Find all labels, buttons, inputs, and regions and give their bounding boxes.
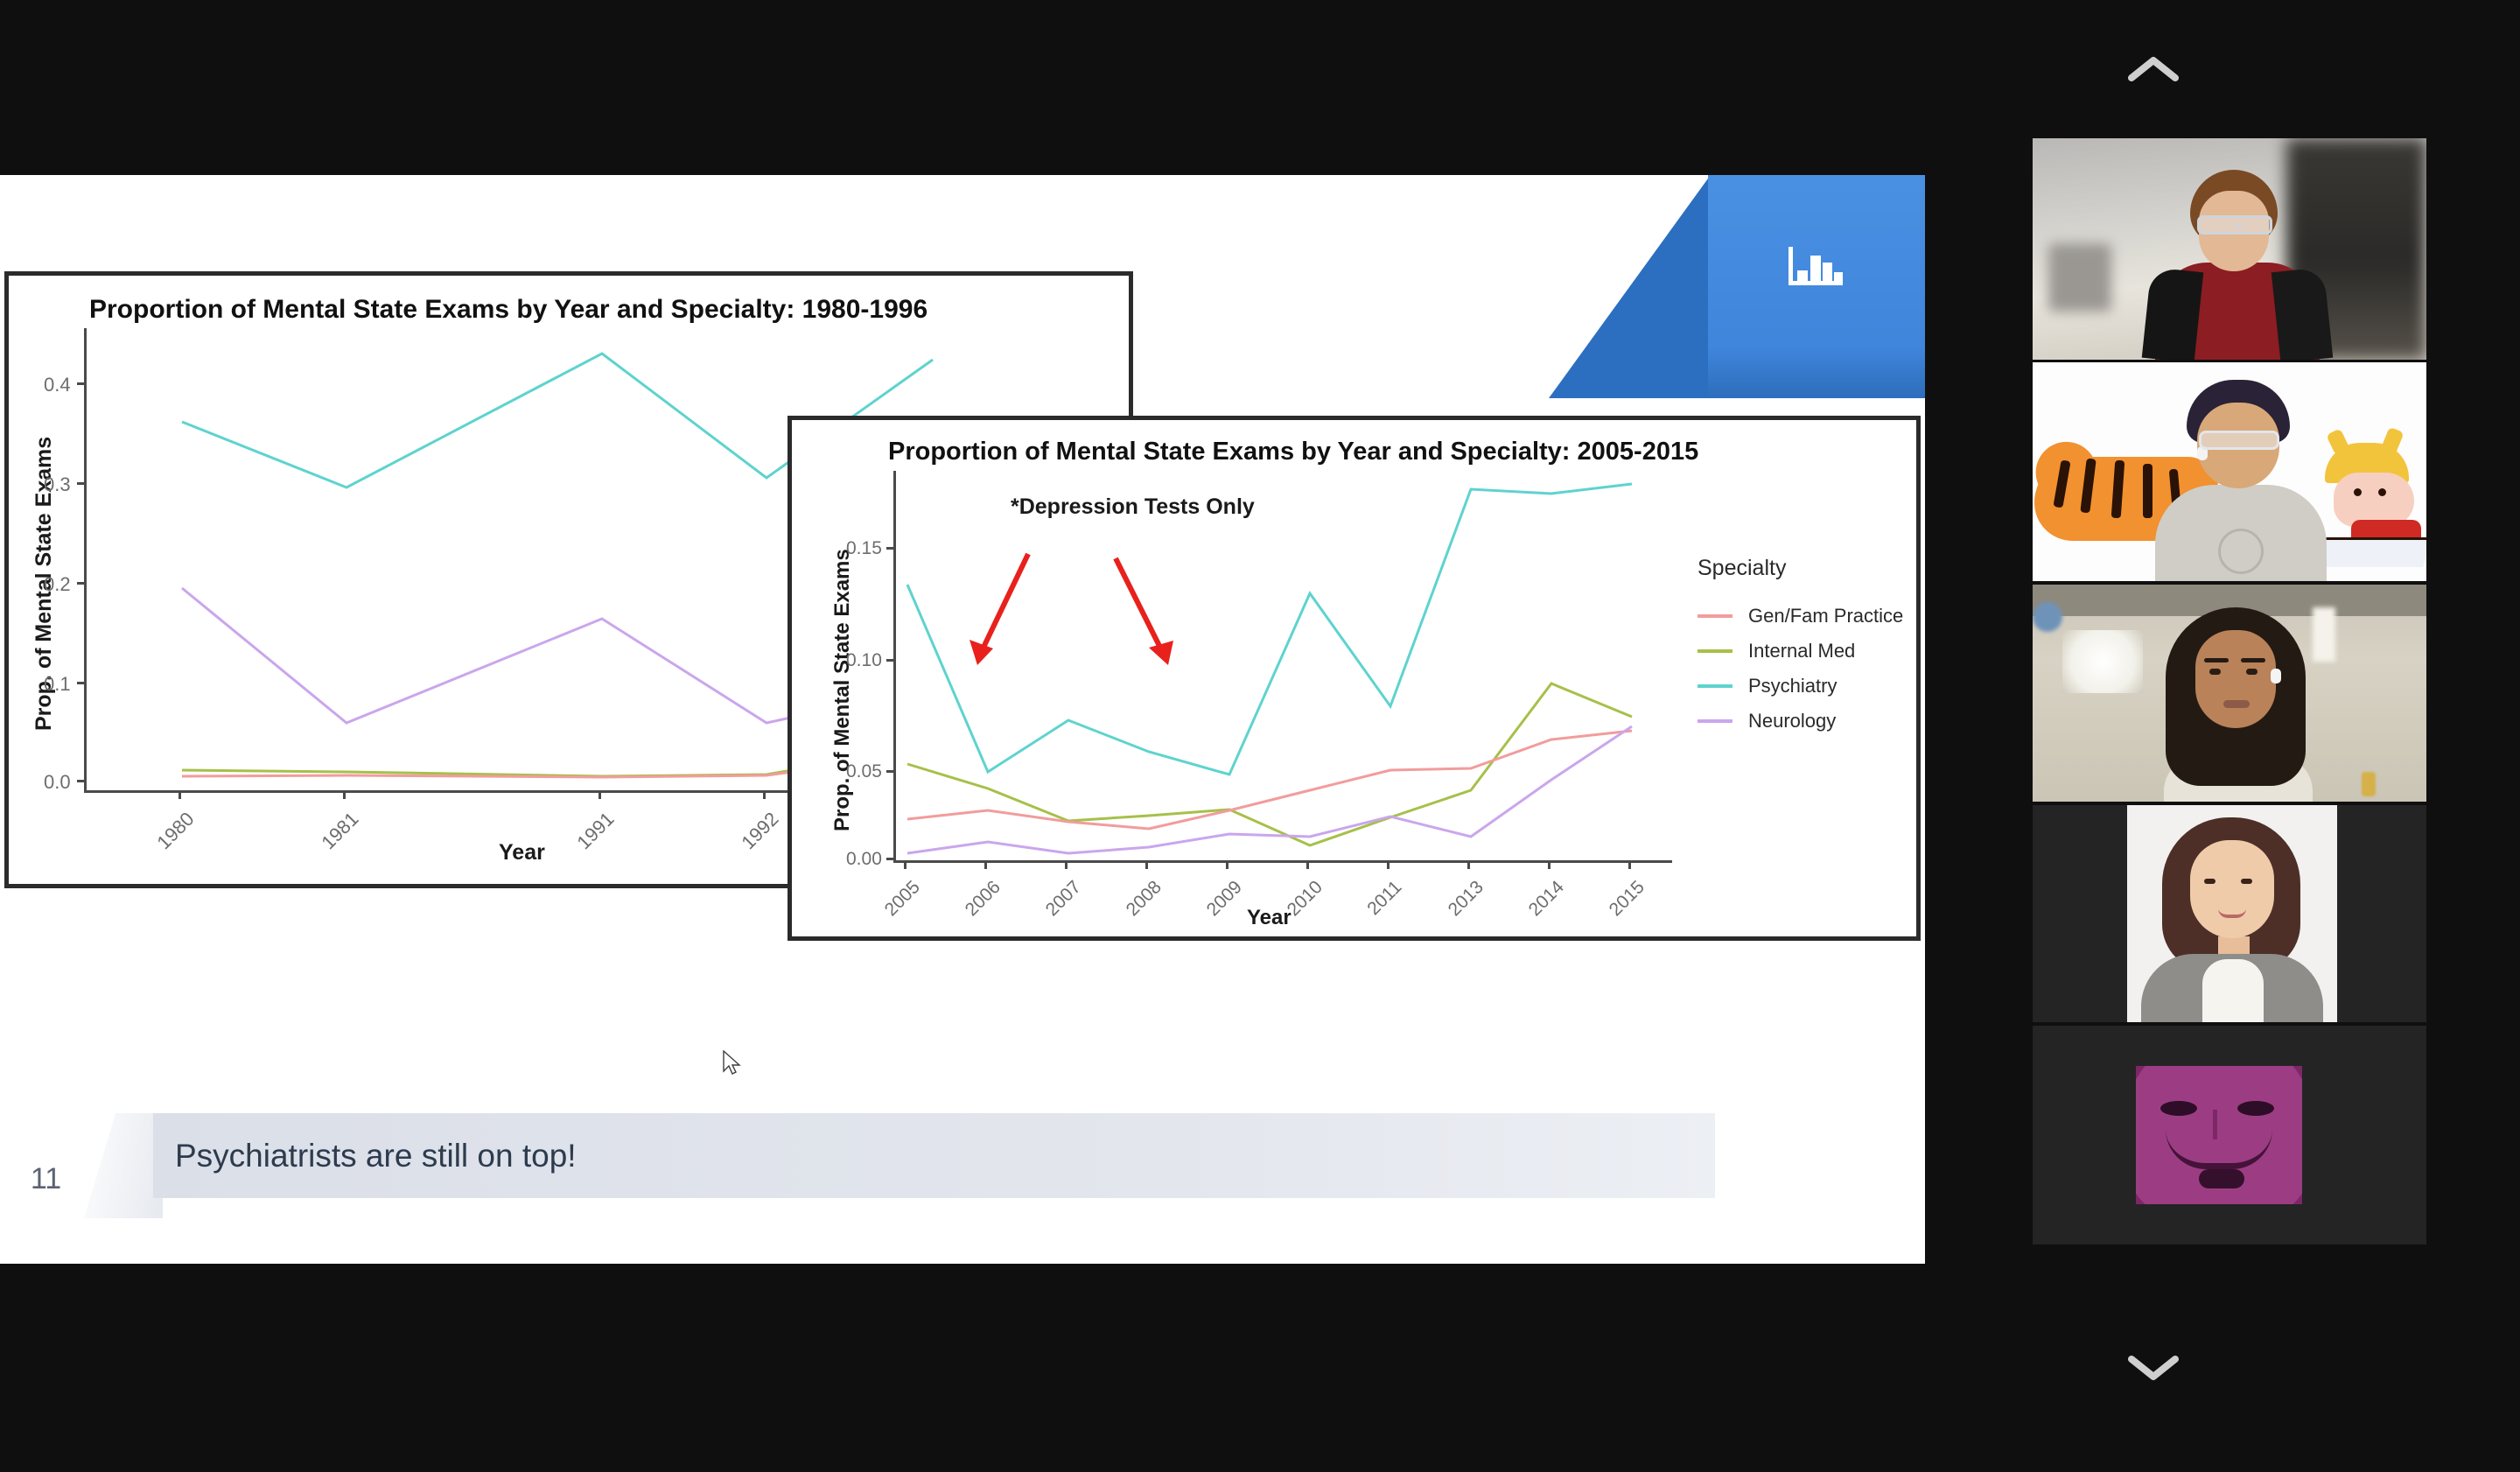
chart2-series-genfam xyxy=(907,731,1632,829)
chart2-xtick-2009: 2009 xyxy=(1203,877,1247,921)
chart2-xtick-2008: 2008 xyxy=(1123,877,1166,921)
chart2-xtick-2015: 2015 xyxy=(1606,877,1649,921)
legend-item-psychiatry: Psychiatry xyxy=(1697,669,1903,704)
chart1-ytick-0.3: 0.3 xyxy=(44,473,71,496)
chart1-tick xyxy=(77,582,85,585)
participant-tile-1[interactable] xyxy=(2033,138,2426,360)
chart1-tick xyxy=(77,682,85,684)
chart2-x-axis-label: Year xyxy=(1247,906,1291,930)
chart-2005-2015: Proportion of Mental State Exams by Year… xyxy=(787,416,1921,941)
chart2-xtick-2007: 2007 xyxy=(1042,877,1086,921)
legend-label-genfam: Gen/Fam Practice xyxy=(1748,605,1903,627)
caption-panel: Psychiatrists are still on top! xyxy=(153,1113,1715,1198)
participant-video-rail xyxy=(2033,0,2426,1472)
chart1-tick xyxy=(77,780,85,782)
chart1-ytick-0.1: 0.1 xyxy=(44,673,71,696)
chart1-x-axis-label: Year xyxy=(499,840,545,866)
chart1-ytick-0.0: 0.0 xyxy=(44,771,71,794)
chart1-xtick xyxy=(598,791,601,799)
chart2-y-axis-line xyxy=(893,471,896,860)
chart2-series-internalmed xyxy=(907,683,1632,845)
annotation-arrow-2 xyxy=(1116,558,1173,665)
chart2-series-neurology xyxy=(907,726,1632,853)
legend-title: Specialty xyxy=(1697,556,1903,581)
chart2-xtick-2006: 2006 xyxy=(962,877,1005,921)
chart1-xtick xyxy=(343,791,346,799)
chevron-down-icon[interactable] xyxy=(2127,1352,2180,1382)
chart2-xtick xyxy=(904,861,906,869)
chart2-xtick xyxy=(1467,861,1470,869)
chart2-xtick xyxy=(1628,861,1631,869)
chart2-xtick xyxy=(1226,861,1228,869)
chart2-ytick-0.00: 0.00 xyxy=(846,849,882,870)
chart1-xtick-1981: 1981 xyxy=(317,808,363,854)
slide-corner-decoration xyxy=(1549,175,1925,398)
chart2-xtick xyxy=(1145,861,1148,869)
mouse-cursor xyxy=(723,1050,742,1076)
bar-chart-icon xyxy=(1788,250,1843,291)
legend-swatch-internalmed xyxy=(1697,649,1732,653)
participant-tile-5[interactable] xyxy=(2033,1026,2426,1244)
chart2-xtick xyxy=(1548,861,1550,869)
chart2-tick xyxy=(886,659,894,662)
chart2-xtick-2014: 2014 xyxy=(1525,877,1569,921)
chart1-xtick-1980: 1980 xyxy=(152,808,199,854)
chart1-title: Proportion of Mental State Exams by Year… xyxy=(89,295,927,325)
participant-tile-4[interactable] xyxy=(2033,805,2426,1022)
chart1-xtick-1992: 1992 xyxy=(737,808,783,854)
annotation-arrow-1 xyxy=(969,554,1028,665)
chart1-xtick-1991: 1991 xyxy=(572,808,619,854)
caption-text: Psychiatrists are still on top! xyxy=(153,1138,577,1174)
chart2-y-axis-label: Prop. of Mental State Exams xyxy=(830,549,855,831)
chart1-xtick xyxy=(178,791,181,799)
chevron-up-icon[interactable] xyxy=(2127,54,2180,84)
legend-swatch-genfam xyxy=(1697,614,1732,618)
presentation-slide[interactable]: Proportion of Mental State Exams by Year… xyxy=(0,175,1925,1264)
caption-bevel xyxy=(84,1113,163,1218)
chart2-xtick-2011: 2011 xyxy=(1363,877,1406,920)
participant-tile-3[interactable] xyxy=(2033,585,2426,802)
chart2-x-axis-line xyxy=(893,860,1672,863)
legend-item-internalmed: Internal Med xyxy=(1697,634,1903,669)
chart1-tick xyxy=(77,382,85,385)
chart2-plot-area xyxy=(897,471,1667,860)
chart2-xtick xyxy=(1065,861,1067,869)
legend-swatch-neurology xyxy=(1697,719,1732,723)
chart2-tick xyxy=(886,547,894,550)
legend-label-neurology: Neurology xyxy=(1748,710,1836,732)
chart2-xtick-2013: 2013 xyxy=(1445,877,1488,921)
chart2-xtick xyxy=(1306,861,1309,869)
chart2-ytick-0.15: 0.15 xyxy=(846,538,882,559)
participant-tile-2[interactable] xyxy=(2033,362,2426,581)
chart2-xtick xyxy=(1387,861,1389,869)
legend-item-neurology: Neurology xyxy=(1697,704,1903,739)
screen-root: Proportion of Mental State Exams by Year… xyxy=(0,0,2520,1472)
legend-label-psychiatry: Psychiatry xyxy=(1748,675,1837,697)
legend-item-genfam: Gen/Fam Practice xyxy=(1697,599,1903,634)
chart2-ytick-0.10: 0.10 xyxy=(846,650,882,671)
chart1-ytick-0.2: 0.2 xyxy=(44,573,71,596)
chart2-title: Proportion of Mental State Exams by Year… xyxy=(888,438,1698,466)
chart2-ytick-0.05: 0.05 xyxy=(846,761,882,782)
slide-number: 11 xyxy=(0,1139,92,1218)
chart1-tick xyxy=(77,482,85,485)
chart2-tick xyxy=(886,770,894,773)
chart2-series-psychiatry xyxy=(907,484,1632,775)
chart2-xtick xyxy=(984,861,987,869)
chart1-xtick xyxy=(763,791,766,799)
slide-caption-bar: 11 Psychiatrists are still on top! xyxy=(0,1113,1715,1218)
chart1-y-axis-line xyxy=(84,328,87,790)
chart2-legend: Specialty Gen/Fam Practice Internal Med … xyxy=(1697,556,1903,739)
chart1-ytick-0.4: 0.4 xyxy=(44,374,71,396)
chart2-tick xyxy=(886,858,894,860)
legend-swatch-psychiatry xyxy=(1697,684,1732,688)
chart2-xtick-2005: 2005 xyxy=(881,877,925,921)
legend-label-internalmed: Internal Med xyxy=(1748,640,1855,662)
